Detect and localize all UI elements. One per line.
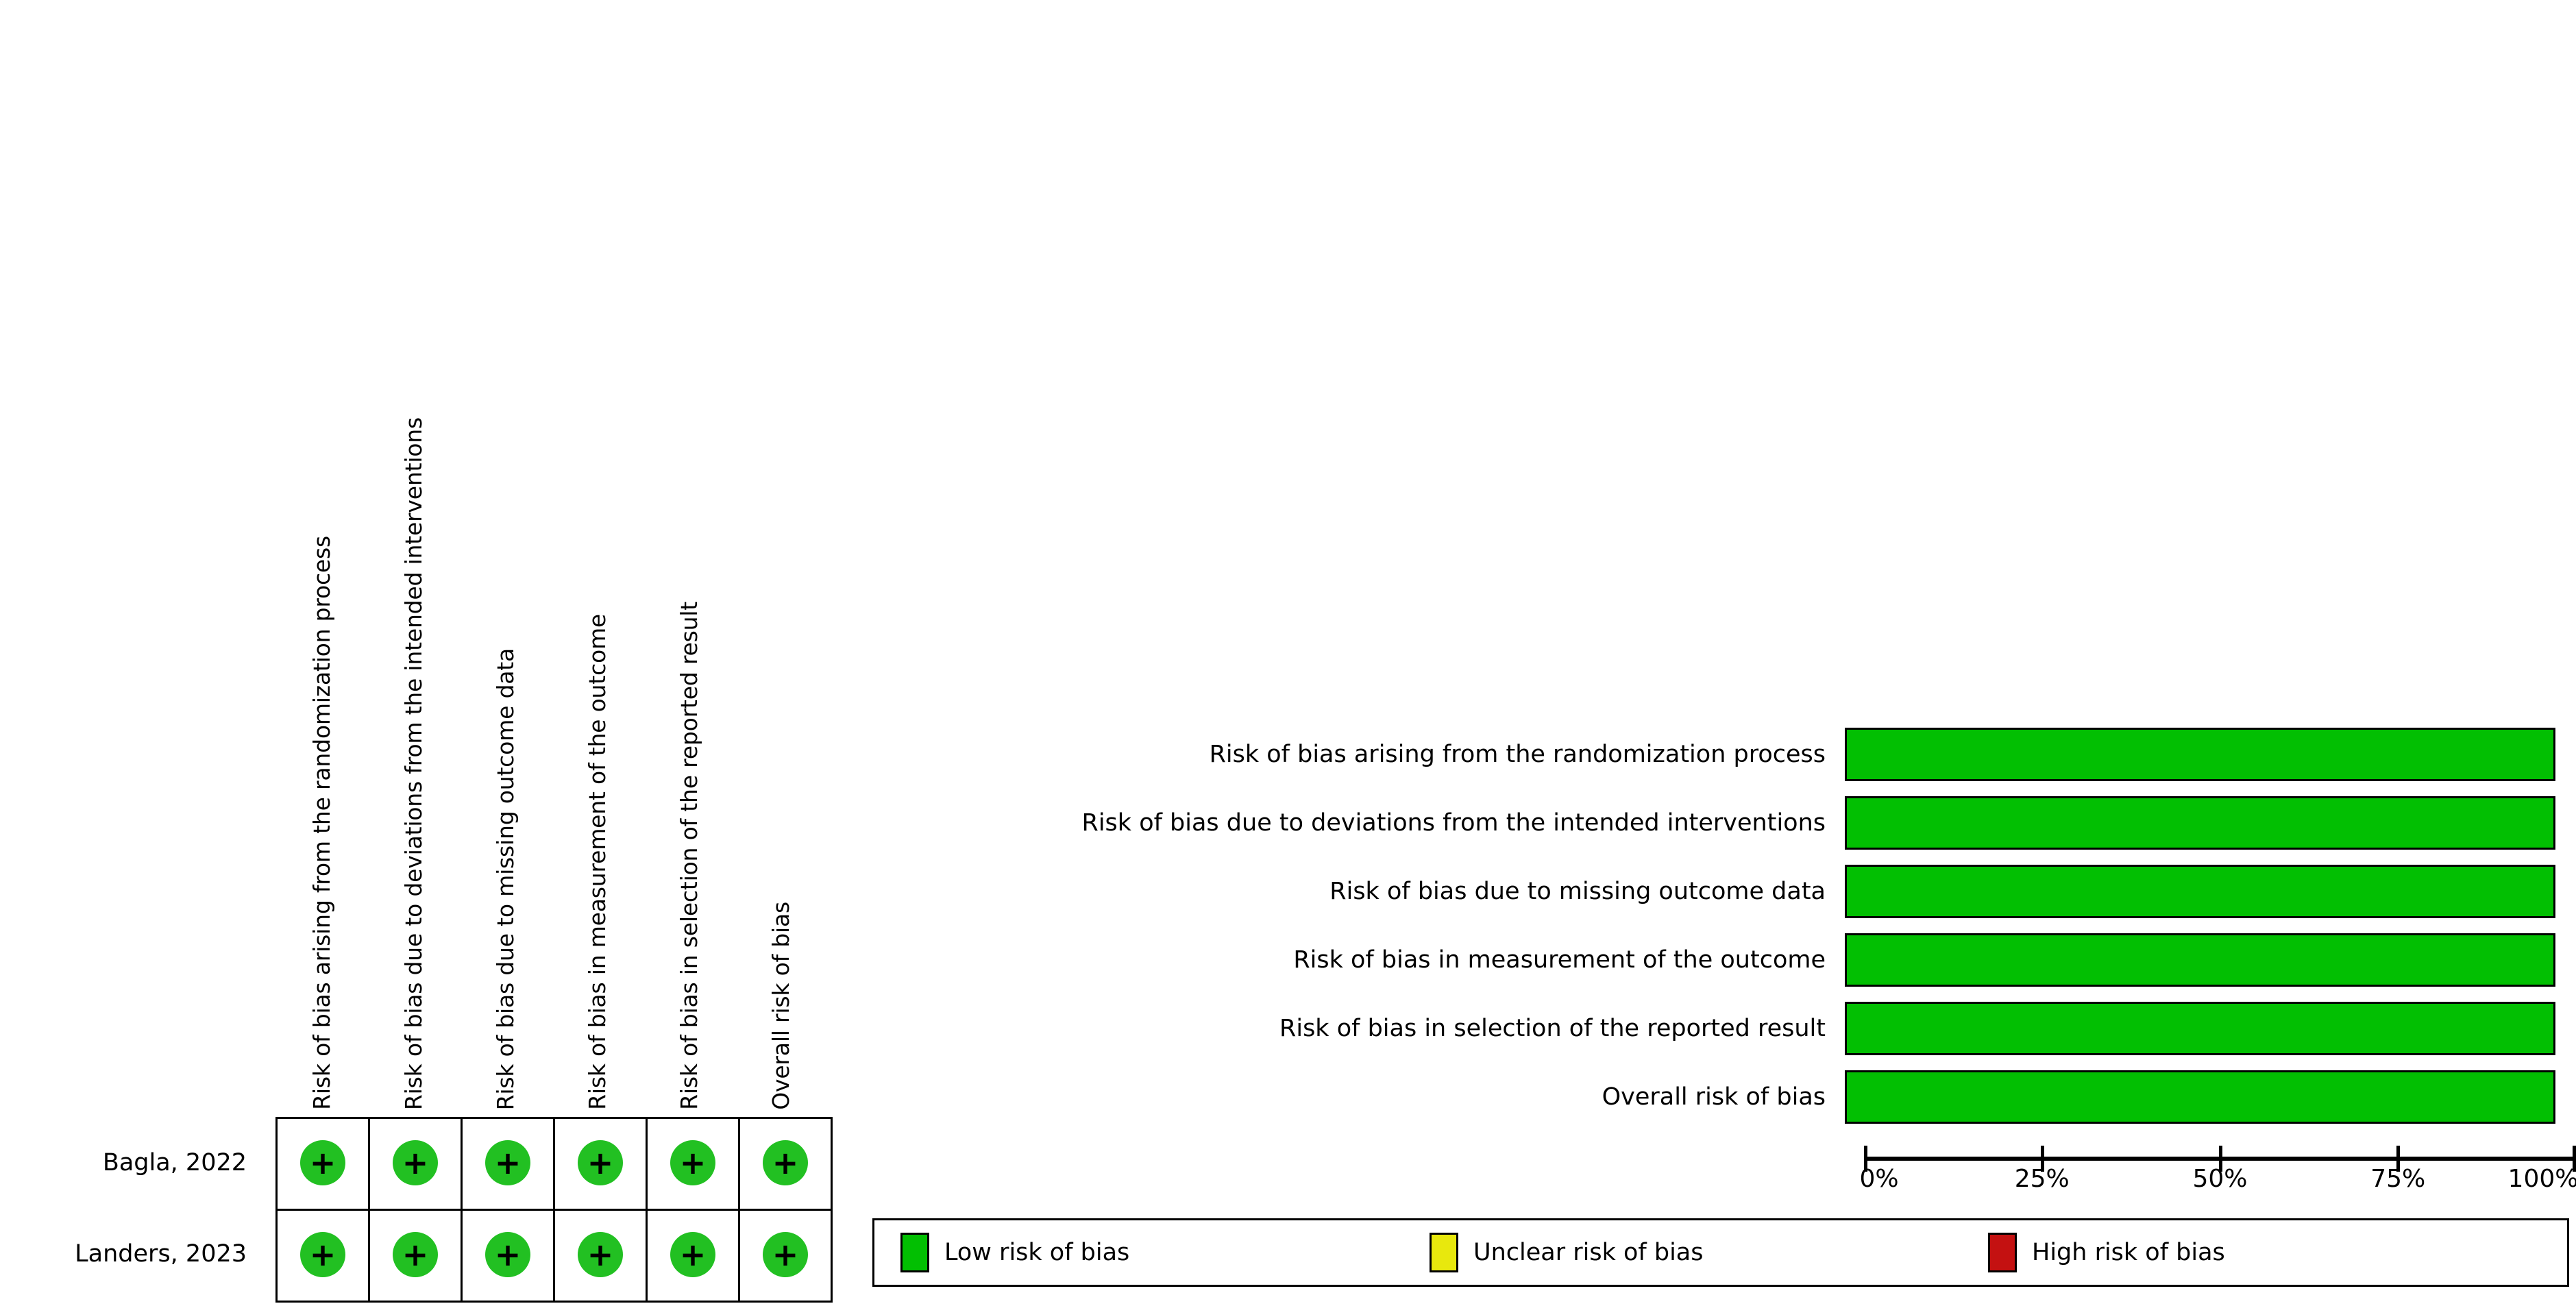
bar-segment-low xyxy=(1847,798,2553,848)
traffic-light-column-header: Risk of bias arising from the randomizat… xyxy=(275,14,367,1110)
traffic-light-column-header-label: Overall risk of bias xyxy=(770,902,792,1110)
x-axis-tick-label: 100% xyxy=(2508,1165,2576,1193)
judgement-low-icon: + xyxy=(578,1232,623,1277)
bar-segment-low xyxy=(1847,730,2553,779)
judgement-cell[interactable]: + xyxy=(739,1118,832,1210)
x-axis-tick-label: 0% xyxy=(1859,1165,1898,1193)
bar-row: Risk of bias due to deviations from the … xyxy=(850,795,2576,851)
judgement-low-icon: + xyxy=(485,1232,530,1277)
judgement-cell[interactable]: + xyxy=(739,1210,832,1302)
bar-row-label: Risk of bias arising from the randomizat… xyxy=(850,741,1845,768)
traffic-light-column-header-label: Risk of bias due to missing outcome data xyxy=(494,648,517,1110)
bar-track xyxy=(1845,796,2555,850)
judgement-symbol: + xyxy=(393,1232,438,1277)
bar-segment-low xyxy=(1847,1072,2553,1122)
legend-label: High risk of bias xyxy=(2032,1239,2225,1266)
traffic-light-column-header: Risk of bias due to deviations from the … xyxy=(367,14,459,1110)
bar-row: Overall risk of bias xyxy=(850,1069,2576,1125)
judgement-cell[interactable]: + xyxy=(462,1118,554,1210)
judgement-symbol: + xyxy=(763,1140,808,1185)
bar-row: Risk of bias due to missing outcome data xyxy=(850,863,2576,920)
traffic-light-panel: Risk of bias arising from the randomizat… xyxy=(0,0,850,1306)
bar-track xyxy=(1845,865,2555,918)
traffic-light-column-header-label: Risk of bias due to deviations from the … xyxy=(402,417,425,1110)
x-axis-tick-label: 25% xyxy=(2015,1165,2070,1193)
judgement-symbol: + xyxy=(578,1232,623,1277)
traffic-light-column-header-label: Risk of bias in measurement of the outco… xyxy=(586,614,609,1110)
bar-row: Risk of bias in selection of the reporte… xyxy=(850,1000,2576,1057)
bar-track xyxy=(1845,1070,2555,1124)
judgement-symbol: + xyxy=(485,1140,530,1185)
judgement-cell[interactable]: + xyxy=(554,1118,647,1210)
legend: Low risk of biasUnclear risk of biasHigh… xyxy=(872,1218,2569,1287)
table-row: ++++++ xyxy=(277,1210,832,1302)
summary-bar-plot-panel: Risk of bias arising from the randomizat… xyxy=(850,0,2576,1306)
judgement-low-icon: + xyxy=(578,1140,623,1185)
traffic-light-column-header: Risk of bias in selection of the reporte… xyxy=(643,14,735,1110)
legend-swatch-low-icon xyxy=(900,1233,929,1272)
judgement-low-icon: + xyxy=(763,1232,808,1277)
traffic-light-row-labels: Bagla, 2022Landers, 2023 xyxy=(0,1117,262,1302)
judgement-cell[interactable]: + xyxy=(647,1210,739,1302)
x-axis xyxy=(1864,1157,2576,1162)
bar-segment-low xyxy=(1847,867,2553,916)
traffic-light-column-header-label: Risk of bias in selection of the reporte… xyxy=(678,602,700,1110)
traffic-light-grid-body: ++++++++++++ xyxy=(277,1118,832,1302)
legend-swatch-high-icon xyxy=(1988,1233,2017,1272)
legend-item-low[interactable]: Low risk of bias xyxy=(900,1233,1129,1272)
judgement-low-icon: + xyxy=(393,1232,438,1277)
table-row: ++++++ xyxy=(277,1118,832,1210)
judgement-symbol: + xyxy=(763,1232,808,1277)
traffic-light-column-header: Overall risk of bias xyxy=(735,14,826,1110)
judgement-symbol: + xyxy=(485,1232,530,1277)
bar-row: Risk of bias in measurement of the outco… xyxy=(850,932,2576,988)
judgement-low-icon: + xyxy=(300,1140,345,1185)
judgement-cell[interactable]: + xyxy=(277,1118,369,1210)
judgement-cell[interactable]: + xyxy=(369,1118,462,1210)
bar-row-label: Risk of bias in measurement of the outco… xyxy=(850,946,1845,974)
legend-item-high[interactable]: High risk of bias xyxy=(1988,1233,2225,1272)
traffic-light-column-header: Risk of bias in measurement of the outco… xyxy=(551,14,643,1110)
judgement-cell[interactable]: + xyxy=(277,1210,369,1302)
bar-row-label: Risk of bias due to missing outcome data xyxy=(850,878,1845,905)
bar-row-label: Overall risk of bias xyxy=(850,1083,1845,1111)
bar-row: Risk of bias arising from the randomizat… xyxy=(850,726,2576,783)
bar-rows-container: Risk of bias arising from the randomizat… xyxy=(850,726,2576,1151)
x-axis-tick-label: 75% xyxy=(2370,1165,2425,1193)
bar-track xyxy=(1845,728,2555,781)
judgement-low-icon: + xyxy=(670,1232,715,1277)
study-row-label: Bagla, 2022 xyxy=(0,1117,262,1208)
judgement-symbol: + xyxy=(670,1232,715,1277)
legend-label: Low risk of bias xyxy=(944,1239,1129,1266)
x-axis-tick-labels: 0%25%50%75%100% xyxy=(1864,1165,2576,1200)
legend-swatch-unclear-icon xyxy=(1430,1233,1458,1272)
judgement-symbol: + xyxy=(578,1140,623,1185)
judgement-low-icon: + xyxy=(393,1140,438,1185)
judgement-cell[interactable]: + xyxy=(462,1210,554,1302)
x-axis-tick-label: 50% xyxy=(2192,1165,2247,1193)
judgement-low-icon: + xyxy=(485,1140,530,1185)
judgement-cell[interactable]: + xyxy=(554,1210,647,1302)
bar-row-label: Risk of bias in selection of the reporte… xyxy=(850,1015,1845,1042)
bar-segment-low xyxy=(1847,1004,2553,1053)
judgement-low-icon: + xyxy=(763,1140,808,1185)
traffic-light-column-header: Risk of bias due to missing outcome data xyxy=(459,14,551,1110)
legend-item-unclear[interactable]: Unclear risk of bias xyxy=(1430,1233,1704,1272)
judgement-cell[interactable]: + xyxy=(369,1210,462,1302)
judgement-symbol: + xyxy=(300,1140,345,1185)
traffic-light-column-header-label: Risk of bias arising from the randomizat… xyxy=(310,536,333,1110)
judgement-symbol: + xyxy=(670,1140,715,1185)
traffic-light-column-headers: Risk of bias arising from the randomizat… xyxy=(275,0,828,1117)
judgement-symbol: + xyxy=(393,1140,438,1185)
bar-track xyxy=(1845,1002,2555,1055)
judgement-low-icon: + xyxy=(670,1140,715,1185)
bar-row-label: Risk of bias due to deviations from the … xyxy=(850,809,1845,837)
judgement-symbol: + xyxy=(300,1232,345,1277)
judgement-cell[interactable]: + xyxy=(647,1118,739,1210)
study-row-label: Landers, 2023 xyxy=(0,1208,262,1299)
bar-segment-low xyxy=(1847,935,2553,985)
traffic-light-grid: ++++++++++++ xyxy=(275,1117,833,1303)
judgement-low-icon: + xyxy=(300,1232,345,1277)
legend-label: Unclear risk of bias xyxy=(1473,1239,1704,1266)
bar-track xyxy=(1845,933,2555,987)
